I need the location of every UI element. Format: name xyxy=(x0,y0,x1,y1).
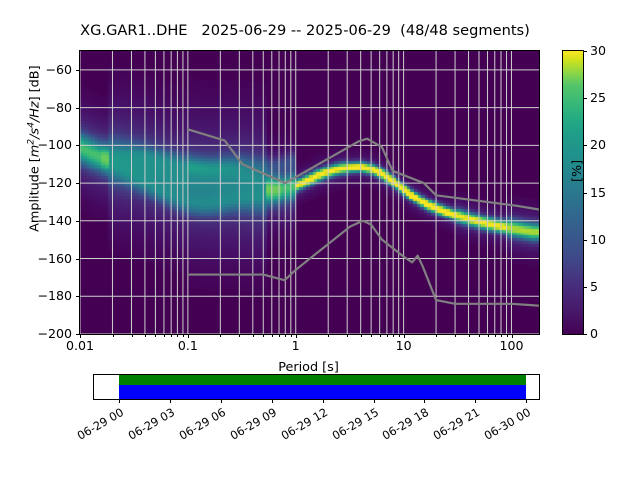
x-tick-mark xyxy=(272,334,273,337)
y-tick-mark xyxy=(76,108,80,109)
x-tick-label: 10 xyxy=(396,338,412,353)
x-axis-label: Period [s] xyxy=(79,360,538,375)
x-tick-mark xyxy=(501,334,502,337)
timeline-tick-mark xyxy=(323,399,324,403)
y-axis-label: Amplitude [m2/s4/Hz] [dB] xyxy=(25,9,42,289)
x-tick-mark xyxy=(387,334,388,337)
y-tick-mark xyxy=(76,259,80,260)
x-tick-mark xyxy=(393,334,394,337)
x-tick-mark xyxy=(361,334,362,337)
x-tick-label: 0.01 xyxy=(66,338,94,353)
timeline-tick-label: 06-29 03 xyxy=(118,405,177,447)
timeline-tick-mark xyxy=(119,399,120,403)
timeline-tick-label: 06-29 12 xyxy=(271,405,330,447)
y-tick-mark xyxy=(76,221,80,222)
ppsd-plot-area xyxy=(80,51,539,334)
y-axis-label-prefix: Amplitude [ xyxy=(28,157,43,232)
colorbar-tick-label: 30 xyxy=(590,43,606,58)
colorbar-tick-label: 5 xyxy=(590,279,598,294)
colorbar-tick-label: 15 xyxy=(590,185,606,200)
timeline-bar-green xyxy=(119,375,526,385)
x-tick-mark xyxy=(371,334,372,337)
ppsd-noise-model-curves xyxy=(80,51,539,334)
x-tick-mark xyxy=(145,334,146,337)
y-axis-unit-m-exp: 2 xyxy=(25,139,36,145)
x-tick-label: 1 xyxy=(292,338,300,353)
colorbar-tick-mark xyxy=(583,193,587,194)
colorbar-label: [%] xyxy=(570,82,585,182)
colorbar-tick-label: 20 xyxy=(590,137,606,152)
colorbar-tick-mark xyxy=(583,334,587,335)
y-axis-unit-m: m xyxy=(28,145,43,157)
x-tick-mark xyxy=(279,334,280,337)
timeline-tick-mark xyxy=(526,399,527,403)
x-tick-mark xyxy=(263,334,264,337)
timeline-tick-mark xyxy=(424,399,425,403)
colorbar-tick-label: 10 xyxy=(590,232,606,247)
colorbar-tick-label: 0 xyxy=(590,326,598,341)
colorbar-tick-label: 25 xyxy=(590,90,606,105)
y-axis-unit-s-exp: 4 xyxy=(25,122,36,128)
y-tick-mark xyxy=(76,145,80,146)
x-tick-mark xyxy=(488,334,489,337)
x-tick-mark xyxy=(285,334,286,337)
y-tick-label: −180 xyxy=(24,288,72,303)
x-tick-mark xyxy=(132,334,133,337)
x-tick-mark xyxy=(220,334,221,337)
timeline-tick-label: 06-29 06 xyxy=(169,405,228,447)
timeline-tick-label: 06-29 00 xyxy=(67,405,126,447)
x-tick-mark xyxy=(507,334,508,337)
colorbar-tick-mark xyxy=(583,240,587,241)
colorbar-tick-mark xyxy=(583,51,587,52)
timeline-tick-mark xyxy=(475,399,476,403)
timeline-tick-label: 06-29 15 xyxy=(322,405,381,447)
x-tick-mark xyxy=(347,334,348,337)
y-axis-label-suffix: ] [dB] xyxy=(28,65,43,101)
x-tick-mark xyxy=(479,334,480,337)
x-tick-mark xyxy=(495,334,496,337)
x-tick-label: 100 xyxy=(499,338,523,353)
colorbar-tick-mark xyxy=(583,287,587,288)
x-tick-mark xyxy=(164,334,165,337)
timeline-bar-blue xyxy=(119,385,526,399)
timeline-tick-mark xyxy=(170,399,171,403)
y-tick-mark xyxy=(76,183,80,184)
x-tick-mark xyxy=(436,334,437,337)
timeline-tick-mark xyxy=(374,399,375,403)
timeline-tick-mark xyxy=(221,399,222,403)
timeline-tick-label: 06-29 21 xyxy=(423,405,482,447)
page-title: XG.GAR1..DHE 2025-06-29 -- 2025-06-29 (4… xyxy=(0,22,610,39)
x-tick-mark xyxy=(469,334,470,337)
x-tick-mark xyxy=(239,334,240,337)
timeline-tick-label: 06-29 18 xyxy=(372,405,431,447)
timeline-tick-mark xyxy=(272,399,273,403)
x-tick-label: 0.1 xyxy=(178,338,198,353)
x-tick-mark xyxy=(455,334,456,337)
y-tick-mark xyxy=(76,296,80,297)
x-tick-mark xyxy=(155,334,156,337)
timeline-tick-label: 06-29 09 xyxy=(220,405,279,447)
x-tick-mark xyxy=(113,334,114,337)
timeline-axes[interactable] xyxy=(93,374,540,400)
timeline-tick-label: 06-30 00 xyxy=(474,405,533,447)
x-tick-mark xyxy=(291,334,292,337)
y-axis-unit-s: /s xyxy=(28,128,43,139)
x-tick-mark xyxy=(328,334,329,337)
y-tick-label: −200 xyxy=(24,326,72,341)
y-axis-unit-hz: /Hz xyxy=(28,101,43,122)
x-tick-mark xyxy=(183,334,184,337)
x-tick-mark xyxy=(177,334,178,337)
x-tick-mark xyxy=(171,334,172,337)
ppsd-figure: XG.GAR1..DHE 2025-06-29 -- 2025-06-29 (4… xyxy=(0,0,640,480)
x-tick-mark xyxy=(380,334,381,337)
ppsd-axes[interactable] xyxy=(79,50,540,335)
x-tick-mark xyxy=(399,334,400,337)
x-tick-mark xyxy=(253,334,254,337)
y-tick-mark xyxy=(76,70,80,71)
